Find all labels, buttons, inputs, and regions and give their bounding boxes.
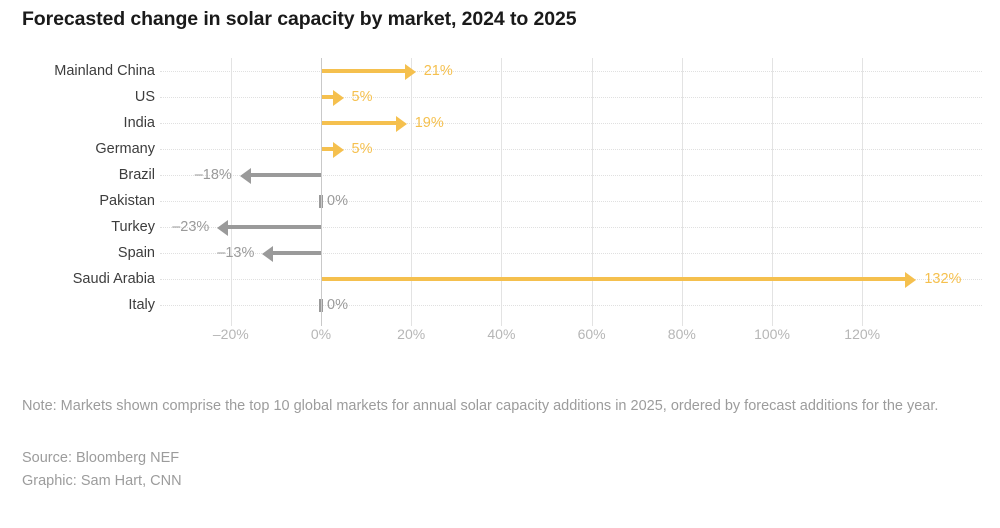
arrow-head-right-icon [905,272,916,288]
value-label: –23% [172,214,209,240]
table-row: Mainland China21% [0,58,1000,84]
arrow-head-right-icon [405,64,416,80]
arrow-head-right-icon [333,142,344,158]
table-row: US5% [0,84,1000,110]
arrow-shaft [321,121,398,125]
category-label-mainland-china: Mainland China [0,58,155,84]
page-title: Forecasted change in solar capacity by m… [22,8,576,31]
value-label: 0% [327,188,348,214]
value-label: –13% [217,240,254,266]
arrow-shaft [321,277,907,281]
table-row: Germany5% [0,136,1000,162]
arrow-head-left-icon [217,220,228,236]
category-label-italy: Italy [0,292,155,318]
table-row: India19% [0,110,1000,136]
footnote-note: Note: Markets shown comprise the top 10 … [22,394,978,419]
value-label: 5% [352,136,373,162]
category-label-saudi-arabia: Saudi Arabia [0,266,155,292]
x-axis: –20%0%20%40%60%80%100%120% [0,326,1000,352]
x-tick-label: –20% [213,326,249,342]
x-tick-label: 120% [844,326,880,342]
table-row: Brazil–18% [0,162,1000,188]
table-row: Turkey–23% [0,214,1000,240]
category-label-brazil: Brazil [0,162,155,188]
chart-footer: Note: Markets shown comprise the top 10 … [22,394,978,493]
plot-area: Mainland China21%US5%India19%Germany5%Br… [0,58,1000,326]
arrow-head-right-icon [333,90,344,106]
arrow-shaft [249,173,321,177]
bar-rows: Mainland China21%US5%India19%Germany5%Br… [0,58,1000,326]
table-row: Saudi Arabia132% [0,266,1000,292]
category-label-germany: Germany [0,136,155,162]
solar-capacity-chart: Forecasted change in solar capacity by m… [0,0,1000,528]
x-tick-label: 0% [311,326,331,342]
category-label-pakistan: Pakistan [0,188,155,214]
value-label: 0% [327,292,348,318]
arrow-shaft [271,251,321,255]
value-label: 5% [352,84,373,110]
value-label: 19% [415,110,444,136]
x-tick-label: 40% [487,326,515,342]
table-row: Spain–13% [0,240,1000,266]
x-tick-label: 80% [668,326,696,342]
arrow-shaft [321,69,407,73]
category-label-spain: Spain [0,240,155,266]
source-block: Source: Bloomberg NEF Graphic: Sam Hart,… [22,447,978,493]
graphic-credit-line: Graphic: Sam Hart, CNN [22,470,978,493]
x-tick-label: 60% [578,326,606,342]
value-label: –18% [195,162,232,188]
arrow-head-right-icon [396,116,407,132]
category-label-turkey: Turkey [0,214,155,240]
table-row: Italy0% [0,292,1000,318]
x-tick-label: 100% [754,326,790,342]
category-label-us: US [0,84,155,110]
vertical-gridline-0 [321,58,322,326]
table-row: Pakistan0% [0,188,1000,214]
arrow-head-left-icon [240,168,251,184]
x-tick-label: 20% [397,326,425,342]
source-line: Source: Bloomberg NEF [22,447,978,470]
value-label: 132% [924,266,961,292]
arrow-shaft [226,225,321,229]
value-label: 21% [424,58,453,84]
category-label-india: India [0,110,155,136]
arrow-head-left-icon [262,246,273,262]
